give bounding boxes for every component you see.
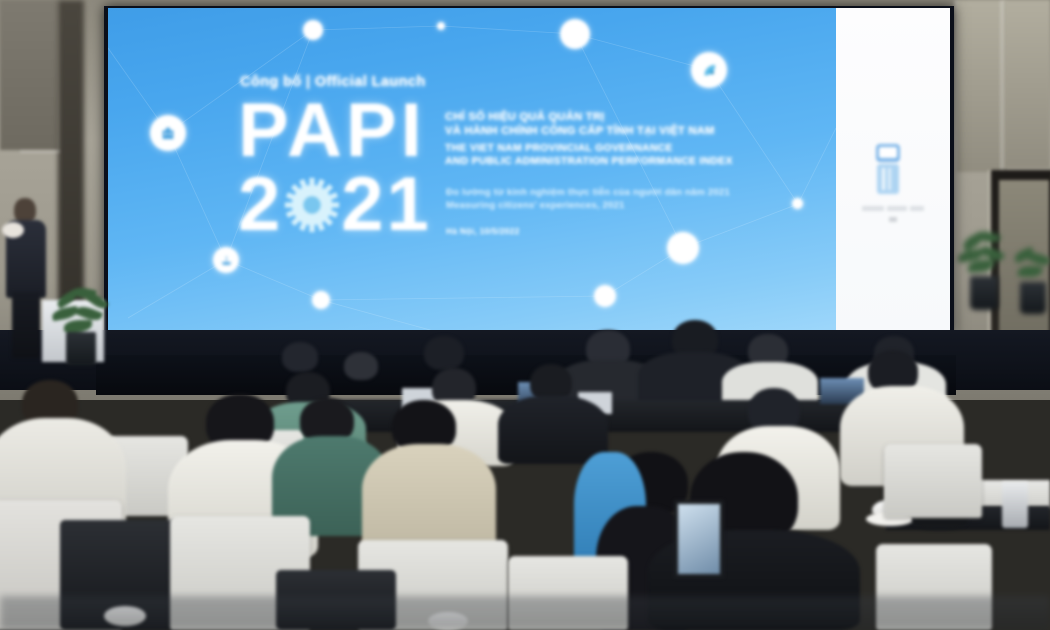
wall-panel	[1004, 0, 1050, 168]
slide-node	[667, 232, 699, 264]
leaf-icon-node	[691, 52, 727, 88]
wall-seam	[20, 150, 60, 153]
title-vn-line1: CHỈ SỐ HIỆU QUẢ QUẢN TRỊ	[445, 111, 715, 125]
boat-icon	[220, 254, 233, 267]
audience-head	[424, 336, 464, 370]
gear-icon	[284, 177, 340, 233]
slide-node	[303, 20, 323, 40]
papi-wordmark: PAPI	[238, 96, 426, 166]
network-lines	[108, 8, 836, 333]
audience-head	[282, 342, 318, 372]
slide-node	[312, 291, 330, 309]
title-en-line2: AND PUBLIC ADMINISTRATION PERFORMANCE IN…	[445, 155, 733, 168]
building-icon	[160, 125, 176, 141]
leaf-icon	[701, 62, 718, 79]
conference-hall-photo: Công bố | Official Launch PAPI 2	[0, 0, 1050, 630]
audience-shoulders	[498, 396, 608, 464]
wall-panel	[0, 0, 58, 150]
slide-node	[560, 19, 590, 49]
led-screen: Công bố | Official Launch PAPI 2	[108, 8, 950, 333]
water-bottle	[1002, 482, 1028, 528]
chair	[884, 444, 982, 518]
tablet-screen	[678, 504, 720, 574]
year-digit-2: 2	[238, 170, 283, 240]
audience-head	[344, 352, 378, 380]
potted-plant	[1012, 248, 1050, 320]
slide-node	[792, 198, 803, 209]
slide-side-panel	[836, 8, 950, 333]
wall-column	[58, 0, 84, 330]
slide-title-english: THE VIET NAM PROVINCIAL GOVERNANCE AND P…	[445, 142, 733, 168]
slide-node	[594, 285, 616, 307]
organization-logo	[868, 138, 908, 204]
potted-plant	[958, 232, 1010, 312]
wall-seam	[954, 0, 957, 340]
audience-shoulders	[362, 444, 496, 552]
boat-icon-node	[213, 247, 239, 273]
year-2021: 2	[238, 170, 432, 240]
potted-plant	[52, 288, 112, 368]
wall-panel	[956, 0, 1006, 172]
slide-node	[437, 22, 445, 30]
title-vn-line2: VÀ HÀNH CHÍNH CÔNG CẤP TỈNH TẠI VIỆT NAM	[445, 125, 715, 139]
slide-place-date: Hà Nội, 10/5/2022	[446, 226, 520, 236]
slide-title-vietnamese: CHỈ SỐ HIỆU QUẢ QUẢN TRỊ VÀ HÀNH CHÍNH C…	[445, 111, 715, 138]
slide-subtitle: Đo lường từ kinh nghiệm thực tiễn của ng…	[446, 186, 730, 212]
floor	[0, 596, 1050, 630]
building-icon-node	[150, 115, 186, 151]
subtitle-en: Measuring citizens' experiences, 2021	[446, 199, 730, 212]
title-en-line1: THE VIET NAM PROVINCIAL GOVERNANCE	[445, 142, 733, 155]
sponsor-logos	[858, 204, 928, 224]
subtitle-vn: Đo lường từ kinh nghiệm thực tiễn của ng…	[446, 186, 730, 199]
year-digits-21: 21	[341, 170, 432, 240]
